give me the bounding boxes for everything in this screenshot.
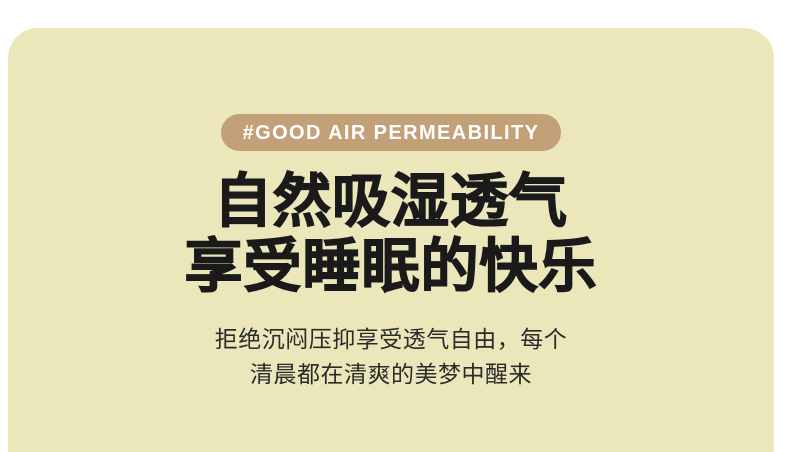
- cream-background-panel: #GOOD AIR PERMEABILITY 自然吸湿透气 享受睡眠的快乐 拒绝…: [8, 28, 774, 452]
- headline-line-2: 享受睡眠的快乐: [184, 235, 597, 300]
- headline: 自然吸湿透气 享受睡眠的快乐: [184, 170, 597, 300]
- banner-content: #GOOD AIR PERMEABILITY 自然吸湿透气 享受睡眠的快乐 拒绝…: [8, 28, 774, 452]
- subtitle: 拒绝沉闷压抑享受透气自由，每个 清晨都在清爽的美梦中醒来: [215, 322, 568, 392]
- subtitle-line-2: 清晨都在清爽的美梦中醒来: [215, 357, 568, 392]
- headline-line-1: 自然吸湿透气: [184, 170, 597, 235]
- subtitle-line-1: 拒绝沉闷压抑享受透气自由，每个: [215, 322, 568, 357]
- promo-banner: #GOOD AIR PERMEABILITY 自然吸湿透气 享受睡眠的快乐 拒绝…: [0, 0, 790, 452]
- category-badge-label: #GOOD AIR PERMEABILITY: [243, 123, 540, 143]
- category-badge: #GOOD AIR PERMEABILITY: [221, 114, 562, 151]
